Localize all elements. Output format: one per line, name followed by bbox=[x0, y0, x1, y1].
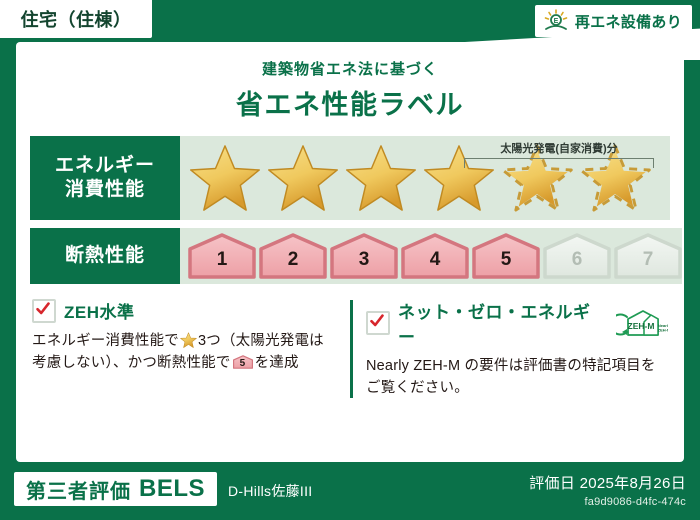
house-grade-number: 3 bbox=[330, 249, 398, 271]
house-grade-number: 2 bbox=[259, 249, 327, 271]
note-nze-title: ネット・ゼロ・エネルギー bbox=[398, 298, 606, 348]
house-grade-icon-1: 1 bbox=[188, 233, 256, 279]
star-icon-inline bbox=[180, 332, 197, 349]
insulation-grade-group: 1 2 3 4 bbox=[180, 233, 682, 279]
note-nze-body: Nearly ZEH-M の要件は評価書の特記項目をご覧ください。 bbox=[366, 355, 668, 400]
note-zeh-text-3: を達成 bbox=[255, 355, 299, 371]
building-type-tag: 住宅（住棟） bbox=[0, 0, 152, 38]
insulation-performance-body: 1 2 3 4 bbox=[180, 228, 682, 284]
energy-performance-row: エネルギー 消費性能 bbox=[30, 136, 670, 220]
house-grade-icon-inline: 5 bbox=[233, 354, 253, 370]
evaluation-date: 評価日 2025年8月26日 bbox=[529, 472, 686, 493]
check-icon bbox=[369, 313, 385, 329]
title-block: 建築物省エネ法に基づく 省エネ性能ラベル bbox=[16, 42, 684, 122]
house-grade-number: 4 bbox=[401, 249, 469, 271]
svg-text:ZEH-M: ZEH-M bbox=[658, 328, 668, 333]
note-zeh-header: ZEH水準 bbox=[32, 298, 334, 323]
page-title: 省エネ性能ラベル bbox=[16, 83, 684, 122]
house-grade-icon-2: 2 bbox=[259, 233, 327, 279]
star-icon-filled-1 bbox=[188, 143, 262, 213]
note-zeh-body: エネルギー消費性能で3つ（太陽光発電は考慮しない）、かつ断熱性能で5を達成 bbox=[32, 330, 334, 375]
insulation-performance-label: 断熱性能 bbox=[30, 228, 180, 284]
checkbox-net-zero-energy bbox=[366, 311, 390, 335]
house-grade-icon-7: 7 bbox=[614, 233, 682, 279]
note-net-zero-energy: ネット・ゼロ・エネルギー ZEH-M Nearly ZEH-M N bbox=[350, 298, 668, 400]
ratings-section: エネルギー 消費性能 bbox=[30, 136, 670, 284]
note-nze-header: ネット・ゼロ・エネルギー ZEH-M Nearly ZEH-M bbox=[366, 298, 668, 348]
energy-performance-body: 太陽光発電(自家消費)分 bbox=[180, 136, 670, 220]
renewable-energy-badge: E 再エネ設備あり bbox=[535, 5, 692, 37]
house-grade-icon-4: 4 bbox=[401, 233, 469, 279]
energy-label-line1: エネルギー bbox=[55, 154, 155, 178]
star-icon-filled-2 bbox=[266, 143, 340, 213]
house-grade-number: 1 bbox=[188, 249, 256, 271]
note-zeh-standard: ZEH水準 エネルギー消費性能で3つ（太陽光発電は考慮しない）、かつ断熱性能で5… bbox=[32, 298, 334, 400]
star-icon-filled-4 bbox=[422, 143, 496, 213]
checkbox-zeh-standard bbox=[32, 299, 56, 323]
renewable-energy-label: 再エネ設備あり bbox=[575, 11, 682, 32]
energy-label-line2: 消費性能 bbox=[65, 178, 145, 202]
house-grade-icon-6: 6 bbox=[543, 233, 611, 279]
zeh-m-logo: ZEH-M Nearly ZEH-M bbox=[616, 309, 668, 337]
insulation-label-text: 断熱性能 bbox=[65, 244, 145, 268]
house-grade-icon-5: 5 bbox=[472, 233, 540, 279]
check-icon bbox=[35, 301, 51, 317]
house-grade-icon-3: 3 bbox=[330, 233, 398, 279]
title-subtitle: 建築物省エネ法に基づく bbox=[16, 58, 684, 79]
note-zeh-text-1: エネルギー消費性能で bbox=[32, 333, 179, 349]
house-grade-inline-number: 5 bbox=[233, 356, 253, 372]
star-icon-filled-3 bbox=[344, 143, 418, 213]
star-icon-solar-6 bbox=[578, 143, 652, 213]
building-name: D-Hills佐藤III bbox=[228, 481, 312, 501]
building-type-label: 住宅（住棟） bbox=[21, 6, 132, 32]
house-grade-number: 7 bbox=[614, 249, 682, 271]
notes-section: ZEH水準 エネルギー消費性能で3つ（太陽光発電は考慮しない）、かつ断熱性能で5… bbox=[32, 298, 668, 400]
svg-text:ZEH-M: ZEH-M bbox=[628, 321, 655, 331]
note-zeh-title: ZEH水準 bbox=[64, 298, 135, 323]
energy-performance-label: エネルギー 消費性能 bbox=[30, 136, 180, 220]
star-icon-solar-5 bbox=[500, 143, 574, 213]
insulation-performance-row: 断熱性能 1 2 3 bbox=[30, 228, 670, 284]
evaluation-id: fa9d9086-d4fc-474c bbox=[529, 496, 686, 508]
svg-text:E: E bbox=[554, 18, 559, 25]
label-footer: 第三者評価 BELS D-Hills佐藤III 評価日 2025年8月26日 f… bbox=[0, 464, 700, 520]
evaluation-info: 評価日 2025年8月26日 fa9d9086-d4fc-474c bbox=[529, 472, 686, 508]
sun-icon: E bbox=[543, 9, 569, 33]
notes-divider bbox=[350, 300, 353, 398]
label-main-panel: 建築物省エネ法に基づく 省エネ性能ラベル エネルギー 消費性能 bbox=[16, 42, 684, 462]
bels-certification-box: 第三者評価 BELS bbox=[14, 472, 217, 506]
house-grade-number: 5 bbox=[472, 249, 540, 271]
energy-label-root: 住宅（住棟） E 再エネ設備あり 建築物省エネ法に基づく 省エネ性能ラベル bbox=[0, 0, 700, 520]
bels-en-label: BELS bbox=[139, 475, 205, 503]
star-rating-group bbox=[180, 143, 652, 213]
house-grade-number: 6 bbox=[543, 249, 611, 271]
bels-jp-label: 第三者評価 bbox=[26, 475, 131, 504]
